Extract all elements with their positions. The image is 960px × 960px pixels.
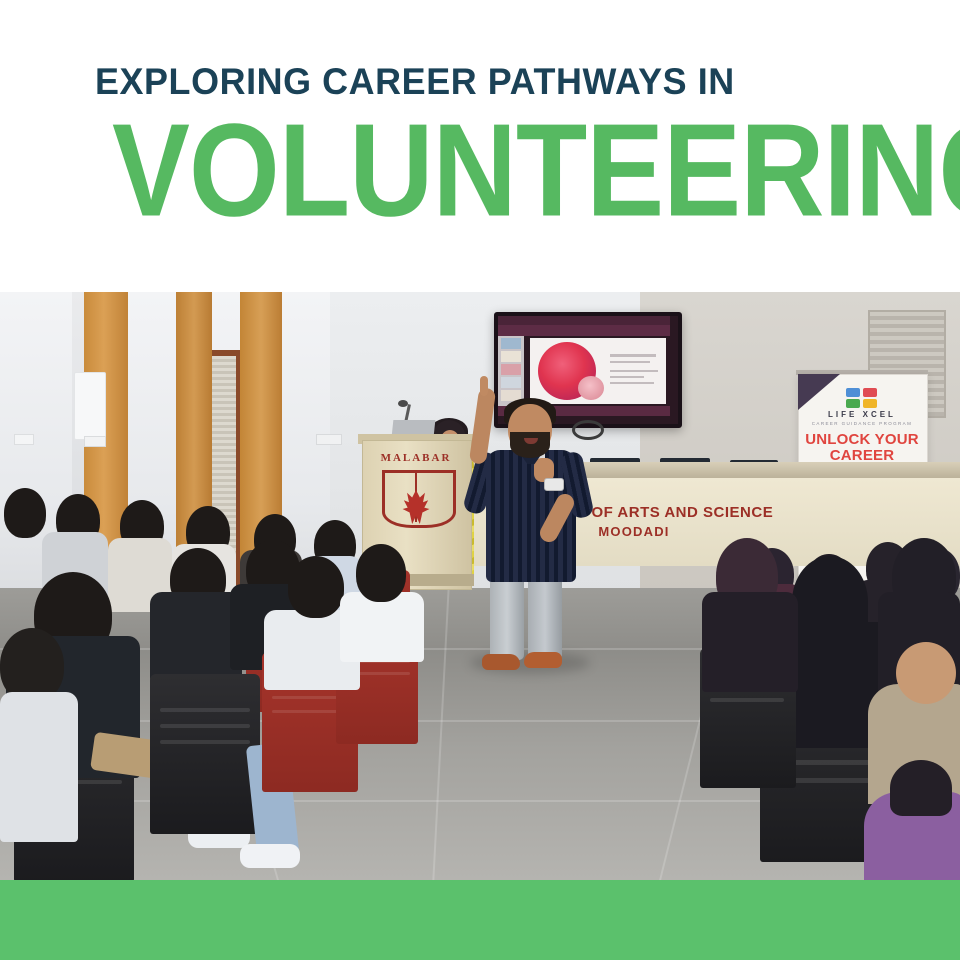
slide-thumbnail — [501, 364, 521, 375]
slide-text-line — [610, 376, 644, 378]
screen-toolbar — [498, 325, 670, 336]
audience-head — [890, 760, 952, 816]
speaker-right-leg — [528, 576, 562, 660]
slide-thumbnail — [501, 351, 521, 362]
audience-head — [896, 642, 956, 704]
audience-body — [702, 592, 798, 692]
podium-microphone-head — [398, 400, 408, 407]
audience-body — [150, 592, 242, 682]
banner-brand-name: LIFE XCEL — [798, 410, 926, 419]
header-kicker-text: EXPLORING CAREER PATHWAYS IN — [95, 63, 735, 100]
lifexcel-logo-icon — [846, 388, 880, 408]
audience-head — [356, 544, 406, 602]
audience-body — [340, 592, 424, 662]
slide-thumbnail — [501, 377, 521, 388]
wall-switch-icon — [14, 434, 34, 445]
audience-shoe — [240, 844, 300, 868]
audience-head — [288, 556, 344, 618]
speaker-left-leg — [490, 576, 524, 660]
slide-text-line — [610, 382, 654, 384]
audience-chair — [150, 674, 260, 834]
audience-body — [0, 692, 78, 842]
speaker-raised-finger — [480, 376, 488, 396]
screen-titlebar — [498, 316, 670, 325]
audience-head — [0, 628, 64, 702]
poster-footer: captains www.captains.ngo — [0, 880, 960, 960]
slide-secondary-image — [578, 376, 604, 400]
speaker-right-shoe — [524, 652, 562, 668]
wall-switch-icon — [316, 434, 342, 445]
poster-header: EXPLORING CAREER PATHWAYS IN VOLUNTEERIN… — [0, 0, 960, 292]
speaker-beard — [510, 432, 550, 458]
screen-slide-rail — [498, 336, 524, 408]
slide-text-line — [610, 370, 658, 372]
slide-text-line — [610, 361, 650, 363]
wall-switch-icon — [84, 436, 106, 447]
speaker-left-shoe — [482, 654, 520, 670]
podium-emblem-text: MALABAR — [362, 452, 470, 464]
header-headline-text: VOLUNTEERING — [112, 108, 960, 234]
poster-canvas: EXPLORING CAREER PATHWAYS IN VOLUNTEERIN… — [0, 0, 960, 960]
slide-text-line — [610, 354, 656, 357]
wall-notice-panel — [74, 372, 106, 440]
banner-brand-subtitle: CAREER GUIDANCE PROGRAM — [798, 421, 926, 426]
event-photo: LIFE XCEL CAREER GUIDANCE PROGRAM UNLOCK… — [0, 292, 960, 880]
screen-wall-mount — [572, 420, 604, 440]
audience-head — [4, 488, 46, 538]
slide-thumbnail — [501, 338, 521, 349]
speaker-wristwatch — [544, 478, 564, 491]
